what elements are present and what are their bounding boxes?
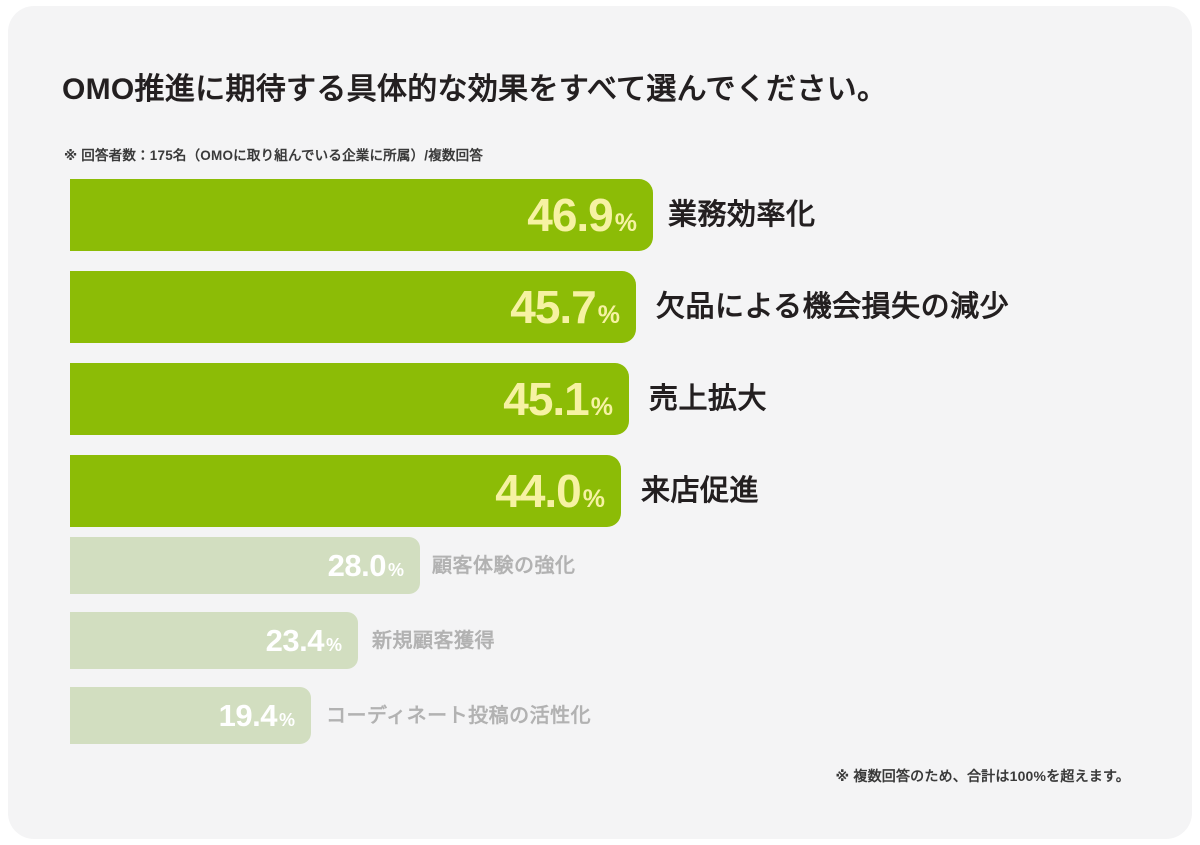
chart-bar: 45.7% [70,271,636,343]
chart-bar: 45.1% [70,363,629,435]
chart-bar: 23.4% [70,612,358,669]
bar-value-percent-sign: % [279,711,295,729]
bar-value: 46.9% [527,192,653,238]
chart-row: 19.4%コーディネート投稿の活性化 [8,687,1192,744]
chart-row: 45.1%売上拡大 [8,363,1192,435]
bar-value: 23.4% [266,625,358,656]
chart-footnote: ※ 複数回答のため、合計は100%を超えます。 [835,766,1130,786]
bar-value-percent-sign: % [615,211,637,236]
chart-row: 23.4%新規顧客獲得 [8,612,1192,669]
bar-value: 44.0% [495,468,621,514]
bar-value: 19.4% [219,700,311,731]
bar-category-label: 売上拡大 [649,385,767,414]
bar-value: 45.1% [503,376,629,422]
chart-row: 44.0%来店促進 [8,455,1192,527]
bar-chart: 46.9%業務効率化45.7%欠品による機会損失の減少45.1%売上拡大44.0… [8,6,1192,839]
chart-row: 28.0%顧客体験の強化 [8,537,1192,594]
bar-value-number: 28.0 [328,550,386,581]
bar-value-percent-sign: % [326,636,342,654]
bar-category-label: 欠品による機会損失の減少 [656,293,1009,322]
bar-value: 45.7% [510,284,636,330]
chart-bar: 28.0% [70,537,420,594]
bar-category-label: コーディネート投稿の活性化 [326,706,591,726]
bar-category-label: 業務効率化 [668,201,816,230]
bar-value-number: 45.1 [503,376,589,422]
chart-row: 46.9%業務効率化 [8,179,1192,251]
bar-value-number: 19.4 [219,700,277,731]
bar-value-percent-sign: % [591,395,613,420]
bar-value-number: 44.0 [495,468,581,514]
bar-value-percent-sign: % [598,303,620,328]
bar-category-label: 顧客体験の強化 [432,556,576,576]
bar-value-number: 46.9 [527,192,613,238]
chart-bar: 46.9% [70,179,653,251]
bar-value-number: 23.4 [266,625,324,656]
chart-row: 45.7%欠品による機会損失の減少 [8,271,1192,343]
chart-card: OMO推進に期待する具体的な効果をすべて選んでください。 ※ 回答者数：175名… [8,6,1192,839]
bar-category-label: 来店促進 [641,477,759,506]
bar-category-label: 新規顧客獲得 [372,631,495,651]
bar-value-percent-sign: % [388,561,404,579]
bar-value-number: 45.7 [510,284,596,330]
bar-value: 28.0% [328,550,420,581]
chart-bar: 44.0% [70,455,621,527]
bar-value-percent-sign: % [583,487,605,512]
chart-bar: 19.4% [70,687,311,744]
